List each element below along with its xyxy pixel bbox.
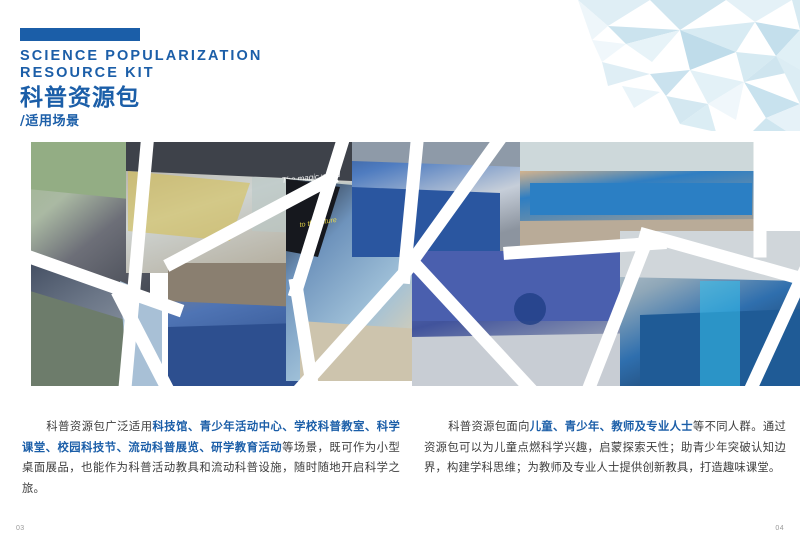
paragraph-highlight-right: 儿童、青少年、教师及专业人士 (530, 420, 693, 433)
english-title-line-2: RESOURCE KIT (20, 65, 440, 82)
chinese-title: 科普资源包 (20, 84, 440, 112)
chinese-subtitle: /适用场景 (20, 113, 440, 130)
english-title-line-1: SCIENCE POPULARIZATION (20, 48, 440, 65)
paragraph-lead-left: 科普资源包广泛适用 (46, 420, 153, 433)
page-number-right: 04 (775, 525, 784, 532)
page-number-left: 03 (16, 525, 25, 532)
body-paragraph-left: 科普资源包广泛适用科技馆、青少年活动中心、学校科普教室、科学课堂、校园科技节、流… (22, 417, 400, 499)
collage-photo-classroom-desks-blue (168, 263, 300, 393)
photo-collage: The magic world to the future (0, 131, 800, 401)
paragraph-lead-right: 科普资源包面向 (448, 420, 530, 433)
title-block: SCIENCE POPULARIZATION RESOURCE KIT 科普资源… (20, 28, 440, 130)
accent-bar (20, 28, 140, 41)
decorative-polygon-pattern (530, 0, 800, 140)
body-paragraph-right: 科普资源包面向儿童、青少年、教师及专业人士等不同人群。通过资源包可以为儿童点燃科… (424, 417, 786, 479)
